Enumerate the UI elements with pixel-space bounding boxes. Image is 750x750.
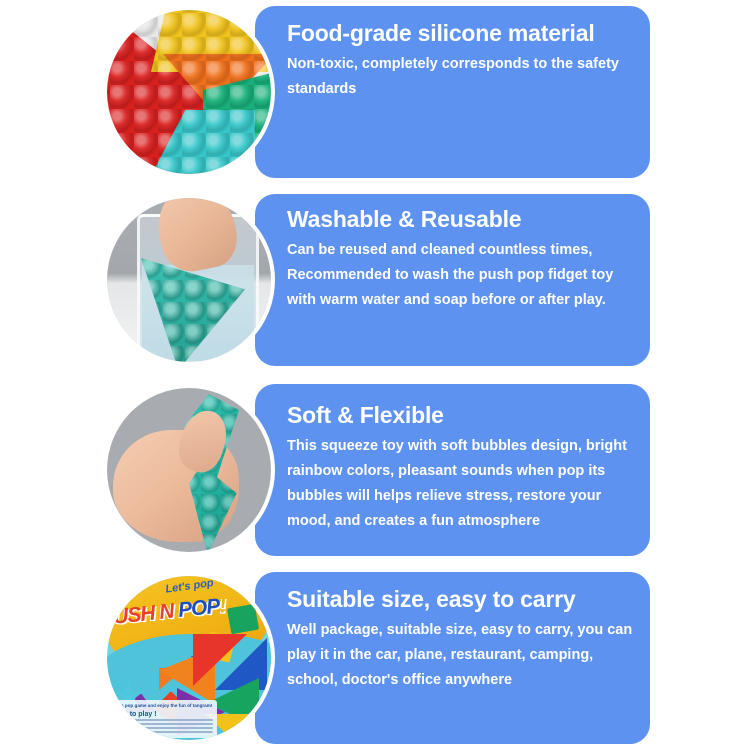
feature-body-1: Non-toxic, completely corresponds to the… bbox=[287, 52, 636, 102]
feature-body-4: Well package, suitable size, easy to car… bbox=[287, 618, 636, 693]
package-instructions-panel: Let's pop game and enjoy the fun of tang… bbox=[109, 700, 217, 738]
feature-title-3: Soft & Flexible bbox=[287, 402, 636, 428]
bubble-texture bbox=[107, 10, 271, 174]
feature-text-4: Suitable size, easy to carry Well packag… bbox=[287, 586, 636, 693]
feature-body-3: This squeeze toy with soft bubbles desig… bbox=[287, 434, 636, 534]
package-how-to-play-text: How to play ! bbox=[113, 711, 213, 718]
feature-image-1 bbox=[103, 6, 275, 178]
feature-card-1: Food-grade silicone material Non-toxic, … bbox=[255, 6, 650, 178]
feature-card-2: Washable & Reusable Can be reused and cl… bbox=[255, 194, 650, 366]
feature-image-4: Let's pop USH N POP! bbox=[103, 572, 275, 744]
feature-title-1: Food-grade silicone material bbox=[287, 20, 636, 46]
package-instruction-lines bbox=[113, 719, 213, 733]
feature-title-4: Suitable size, easy to carry bbox=[287, 586, 636, 612]
feature-image-2 bbox=[103, 194, 275, 366]
rainbow-tangram-pop-toy-photo bbox=[107, 10, 271, 174]
feature-text-1: Food-grade silicone material Non-toxic, … bbox=[287, 20, 636, 102]
feature-image-3 bbox=[103, 384, 275, 556]
infographic-page: Food-grade silicone material Non-toxic, … bbox=[0, 0, 750, 750]
brand-push-text: USH N bbox=[112, 600, 174, 629]
product-packaging-photo: Let's pop USH N POP! bbox=[107, 576, 271, 740]
feature-text-3: Soft & Flexible This squeeze toy with so… bbox=[287, 402, 636, 534]
feature-text-2: Washable & Reusable Can be reused and cl… bbox=[287, 206, 636, 313]
feature-row-3: Soft & Flexible This squeeze toy with so… bbox=[0, 384, 750, 556]
brand-bang-text: ! bbox=[218, 594, 226, 618]
feature-body-2: Can be reused and cleaned countless time… bbox=[287, 238, 636, 313]
hand-squeezing-flexible-toy-photo bbox=[107, 388, 271, 552]
feature-card-4: Suitable size, easy to carry Well packag… bbox=[255, 572, 650, 744]
brand-pop-text: POP bbox=[177, 595, 221, 622]
feature-row-2: Washable & Reusable Can be reused and cl… bbox=[0, 194, 750, 366]
feature-row-1: Food-grade silicone material Non-toxic, … bbox=[0, 6, 750, 178]
feature-row-4: Suitable size, easy to carry Well packag… bbox=[0, 572, 750, 744]
feature-title-2: Washable & Reusable bbox=[287, 206, 636, 232]
hand-washing-toy-in-beaker-photo bbox=[107, 198, 271, 362]
package-note-text: Let's pop game and enjoy the fun of tang… bbox=[113, 703, 213, 709]
feature-card-3: Soft & Flexible This squeeze toy with so… bbox=[255, 384, 650, 556]
